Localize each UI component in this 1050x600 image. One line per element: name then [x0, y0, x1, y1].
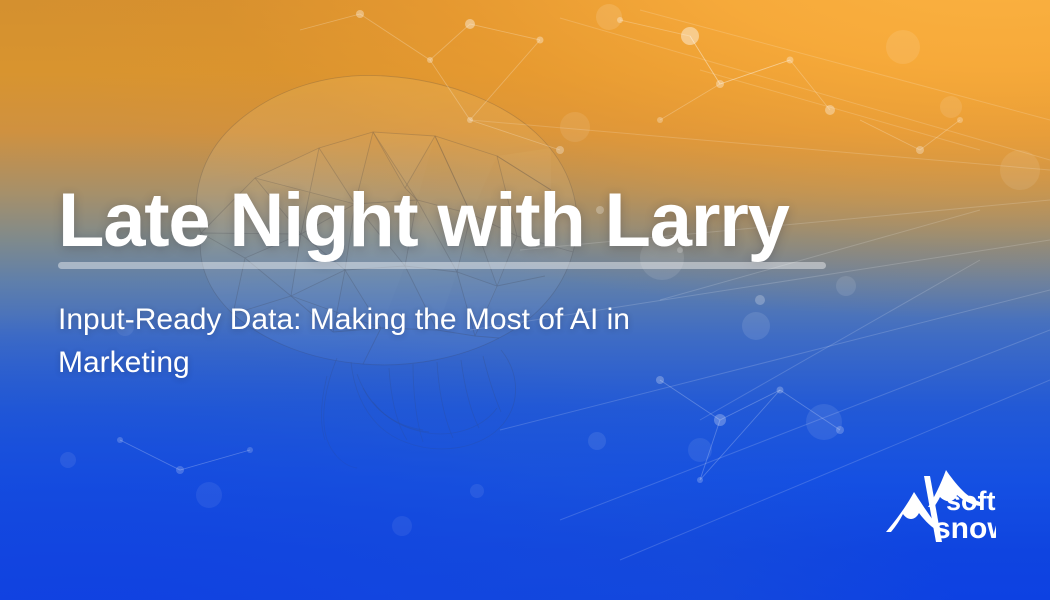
title-slide: Late Night with Larry Input-Ready Data: … — [0, 0, 1050, 600]
mountain-peaks-icon: soft snow — [884, 462, 996, 550]
page-title: Late Night with Larry — [58, 178, 789, 264]
title-divider — [58, 262, 826, 269]
softsnow-logo[interactable]: soft snow — [884, 462, 996, 550]
page-subtitle: Input-Ready Data: Making the Most of AI … — [58, 298, 758, 384]
logo-wordmark-snow: snow — [934, 512, 996, 545]
